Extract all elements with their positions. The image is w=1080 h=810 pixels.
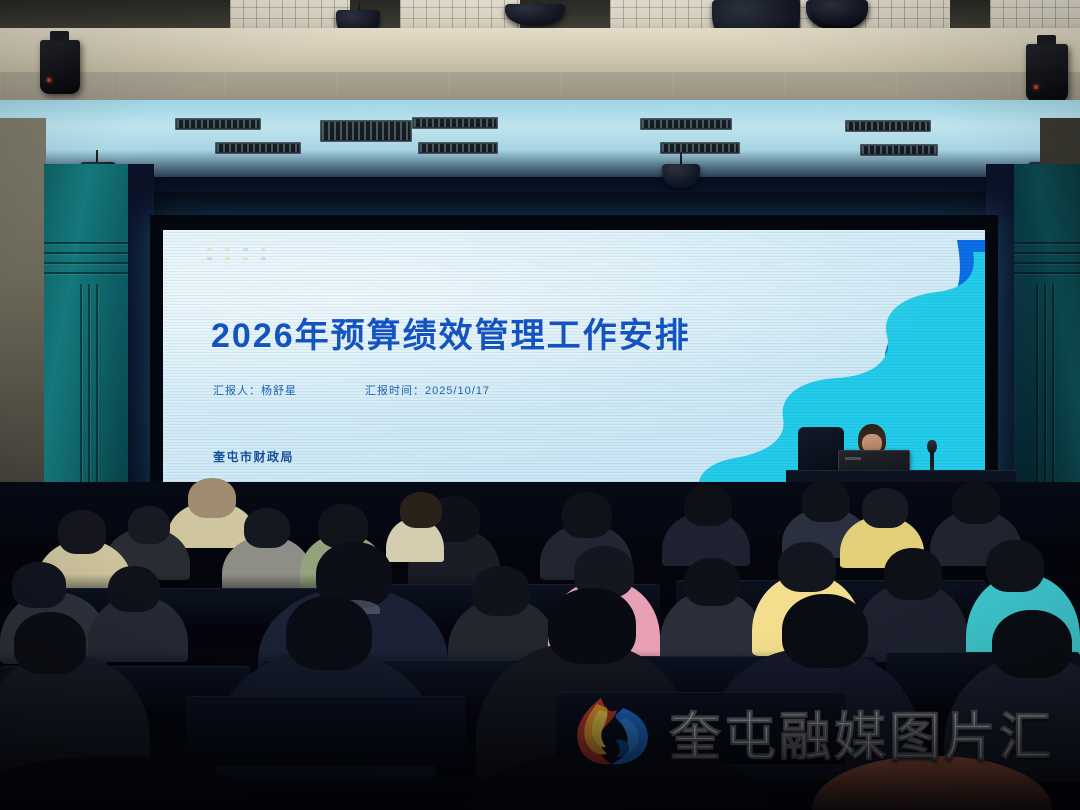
slide-organization: 奎屯市财政局: [213, 448, 294, 465]
audience-head: [802, 480, 850, 522]
ceiling-skylight-panel: [990, 0, 1080, 30]
audience-area: [0, 470, 1080, 810]
audience-head: [862, 488, 908, 528]
slide-decorative-dots: [207, 248, 266, 260]
right-decorative-pillar: [1014, 164, 1080, 508]
audience-head: [778, 542, 836, 592]
ceiling-beam: [0, 28, 1080, 78]
audience-head: [472, 566, 530, 616]
slide-datetime: 汇报时间：2025/10/17: [365, 382, 490, 398]
audience-head: [286, 596, 372, 670]
soffit-shadow: [0, 150, 1080, 192]
ceiling-skylight-panel: [400, 0, 520, 30]
left-wall-surface: [0, 118, 46, 518]
audience-head: [548, 588, 636, 664]
audience-head: [884, 548, 942, 600]
wall-speaker-left-icon: [40, 40, 80, 94]
audience-head: [684, 484, 732, 526]
ceiling-vent: [412, 117, 498, 129]
audience-head: [12, 562, 66, 608]
audience-head: [244, 508, 290, 548]
ceiling-vent: [640, 118, 732, 130]
audience-head: [108, 566, 160, 612]
photograph-canvas: 2026年预算绩效管理工作安排 汇报人：杨舒星 汇报时间：2025/10/17 …: [0, 0, 1080, 810]
audience-head: [562, 492, 612, 538]
audience-head: [684, 558, 740, 606]
wall-speaker-right-icon: [1026, 44, 1068, 102]
audience-head: [188, 478, 236, 518]
slide-title: 2026年预算绩效管理工作安排: [211, 308, 691, 357]
ceiling-vent: [175, 118, 261, 130]
ceiling-skylight-panel: [230, 0, 350, 30]
audience-head: [14, 612, 86, 674]
audience-head: [952, 482, 1000, 524]
audience-head: [128, 506, 170, 544]
ceiling-vent: [320, 120, 412, 142]
seat-back: [186, 696, 466, 766]
slide-presenter: 汇报人：杨舒星: [213, 382, 297, 398]
audience-head: [58, 510, 106, 554]
audience-head: [986, 540, 1044, 592]
audience-head: [782, 594, 868, 668]
audience-head: [400, 492, 442, 528]
slide-meta-row: 汇报人：杨舒星 汇报时间：2025/10/17: [213, 382, 490, 398]
audience-head: [992, 610, 1072, 678]
left-decorative-pillar: [44, 164, 130, 508]
ceiling-vent: [845, 120, 931, 132]
